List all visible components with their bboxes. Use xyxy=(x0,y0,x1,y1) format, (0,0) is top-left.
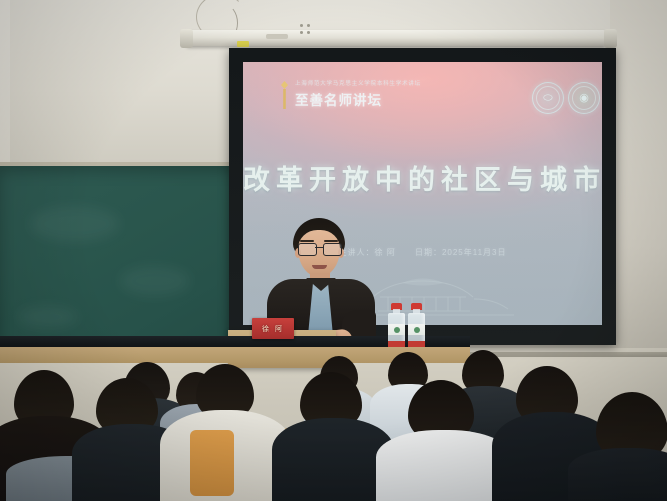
roller-end-cap-left xyxy=(180,29,193,48)
wall-screw xyxy=(307,31,310,34)
speaker-eyebrow-right xyxy=(324,240,338,242)
wall-left-edge xyxy=(0,0,10,170)
slide-date-label: 日期：2025年11月3日 xyxy=(415,248,507,257)
water-bottle xyxy=(408,303,425,347)
slide-title: 改革开放中的社区与城市建设 xyxy=(243,158,602,197)
lecture-hall-photo: 上海师范大学马克思主义学院本科生学术讲坛 至善名师讲坛 ⬭ ◉ 改革开放中的社区… xyxy=(0,0,667,501)
slide-forum-name: 至善名师讲坛 xyxy=(295,89,421,109)
nameplate-text: 徐 阿 xyxy=(262,324,284,334)
green-chalkboard xyxy=(0,162,253,358)
institute-seal-icon: ◉ xyxy=(568,82,600,114)
eyeglasses-icon xyxy=(297,243,341,255)
nameplate: 徐 阿 xyxy=(252,318,294,339)
roller-end-cap-right xyxy=(604,29,617,48)
wall-screw xyxy=(307,24,310,27)
speaker-eyebrow-left xyxy=(300,240,314,242)
speaker-mouth xyxy=(312,265,327,269)
slide-kicker: 上海师范大学马克思主义学院本科生学术讲坛 xyxy=(295,79,421,87)
wall-screw xyxy=(300,24,303,27)
roller-tab xyxy=(266,34,288,39)
student-bag-strap xyxy=(190,430,234,496)
student-body xyxy=(568,448,667,501)
projection-screen-roller xyxy=(186,30,606,46)
wall-screw xyxy=(300,31,303,34)
torch-icon xyxy=(279,80,290,110)
roller-sticker xyxy=(237,41,249,47)
water-bottle xyxy=(388,303,405,347)
classroom-wall-right xyxy=(610,0,667,350)
slide-header: 上海师范大学马克思主义学院本科生学术讲坛 至善名师讲坛 xyxy=(295,79,421,109)
university-seal-icon: ⬭ xyxy=(532,82,564,114)
